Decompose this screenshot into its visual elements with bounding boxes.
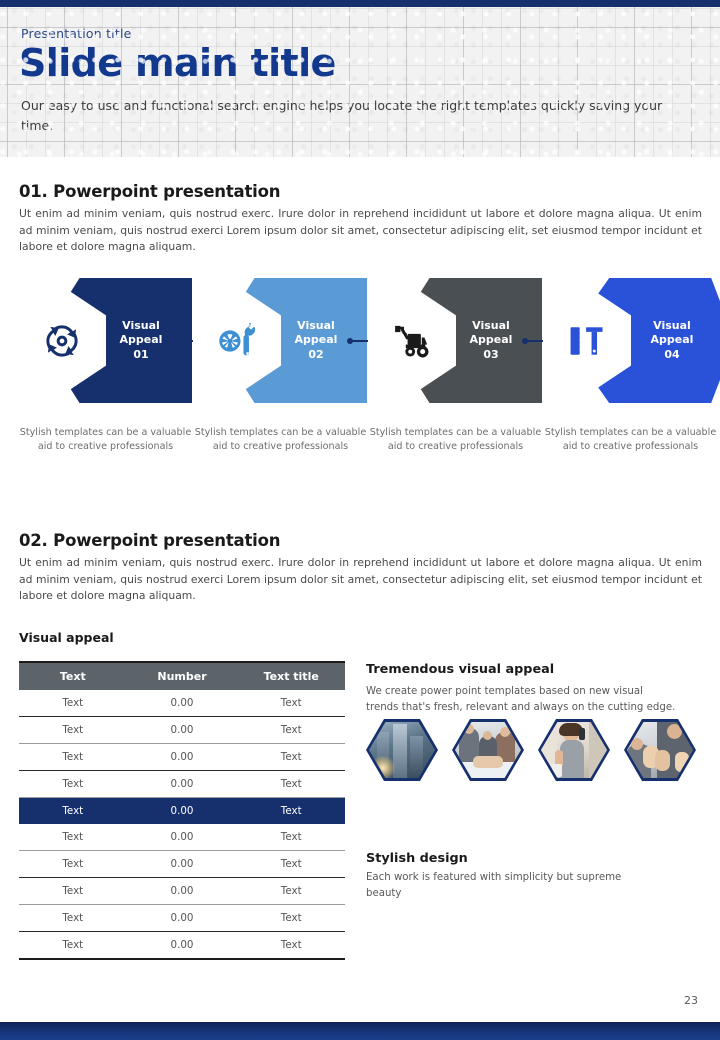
table-cell: Text	[237, 717, 345, 744]
process-step-4-number: 04	[635, 348, 709, 363]
business-meeting-photo[interactable]	[452, 719, 524, 781]
table-row[interactable]: Text 0.00 Text	[19, 824, 345, 851]
table-row[interactable]: Text 0.00 Text	[19, 878, 345, 905]
table-cell: Text	[19, 690, 127, 717]
table-cell: 0.00	[127, 905, 238, 932]
process-step-2-title: Visual Appeal	[295, 319, 338, 347]
table-cell: 0.00	[127, 851, 238, 878]
process-step-2[interactable]: Visual Appeal 02	[193, 278, 368, 403]
page-title: Slide main title	[19, 40, 336, 86]
section-1-body: Ut enim ad minim veniam, quis nostrud ex…	[19, 206, 702, 256]
table-cell: 0.00	[127, 932, 238, 960]
process-step-2-caption: Stylish templates can be a valuable aid …	[193, 426, 368, 454]
table-cell: 0.00	[127, 690, 238, 717]
table-row[interactable]: Text 0.00 Text	[19, 905, 345, 932]
woman-on-phone-photo[interactable]	[538, 719, 610, 781]
table-cell: Text	[237, 798, 345, 825]
table-row[interactable]: Text 0.00 Text	[19, 851, 345, 878]
table-row-highlighted[interactable]: Text 0.00 Text	[19, 798, 345, 825]
table-col-header-0[interactable]: Text	[19, 662, 127, 690]
top-accent-bar	[0, 0, 720, 7]
table-cell: 0.00	[127, 717, 238, 744]
process-step-1-title: Visual Appeal	[120, 319, 163, 347]
table-cell: Text	[237, 771, 345, 798]
table-cell: Text	[19, 744, 127, 771]
table-cell: 0.00	[127, 798, 238, 825]
section-2-body: Ut enim ad minim veniam, quis nostrud ex…	[19, 555, 702, 605]
bottom-accent-bar	[0, 1022, 720, 1040]
process-step-1[interactable]: Visual Appeal 01	[18, 278, 193, 403]
table-cell: Text	[237, 851, 345, 878]
table-cell: Text	[19, 771, 127, 798]
table-body: Text 0.00 Text Text 0.00 Text Text 0.00 …	[19, 690, 345, 959]
process-step-4-caption: Stylish templates can be a valuable aid …	[543, 426, 718, 454]
process-step-3-label: Visual Appeal 03	[454, 319, 528, 363]
table-cell: 0.00	[127, 878, 238, 905]
table-cell: Text	[237, 690, 345, 717]
table-row[interactable]: Text 0.00 Text	[19, 771, 345, 798]
skyscrapers-photo[interactable]	[366, 719, 438, 781]
process-step-4-label: Visual Appeal 04	[635, 319, 709, 363]
section-1-heading: 01. Powerpoint presentation	[19, 182, 280, 201]
table-cell: 0.00	[127, 744, 238, 771]
table-cell: Text	[19, 717, 127, 744]
table-cell: Text	[237, 878, 345, 905]
tremendous-visual-appeal-body: We create power point templates based on…	[366, 684, 676, 715]
table-cell: Text	[19, 824, 127, 851]
process-step-1-caption: Stylish templates can be a valuable aid …	[18, 426, 193, 454]
process-step-2-number: 02	[279, 348, 353, 363]
tremendous-visual-appeal-heading: Tremendous visual appeal	[366, 662, 554, 677]
table-title: Visual appeal	[19, 630, 114, 645]
presentation-title: Presentation title	[21, 26, 132, 41]
table-row[interactable]: Text 0.00 Text	[19, 744, 345, 771]
data-table: Text Number Text title Text 0.00 Text Te…	[19, 661, 345, 960]
table-cell: 0.00	[127, 824, 238, 851]
table-cell: Text	[237, 744, 345, 771]
section-2-heading: 02. Powerpoint presentation	[19, 531, 280, 550]
process-step-3[interactable]: Visual Appeal 03	[368, 278, 543, 403]
process-step-1-label: Visual Appeal 01	[104, 319, 178, 363]
stylish-design-body: Each work is featured with simplicity bu…	[366, 870, 626, 901]
process-step-4[interactable]: Visual Appeal 04	[543, 278, 718, 403]
table-cell: Text	[19, 851, 127, 878]
process-step-1-number: 01	[104, 348, 178, 363]
table-cell: Text	[19, 878, 127, 905]
table-cell: Text	[19, 905, 127, 932]
table-col-header-2[interactable]: Text title	[237, 662, 345, 690]
process-step-4-title: Visual Appeal	[651, 319, 694, 347]
table-cell: Text	[19, 932, 127, 960]
table-col-header-1[interactable]: Number	[127, 662, 238, 690]
slide-header: Presentation title Slide main title Our …	[0, 7, 720, 157]
table-row[interactable]: Text 0.00 Text	[19, 690, 345, 717]
process-step-3-number: 03	[454, 348, 528, 363]
table-row[interactable]: Text 0.00 Text	[19, 932, 345, 960]
table-header: Text Number Text title	[19, 662, 345, 690]
table-cell: Text	[237, 905, 345, 932]
table-row[interactable]: Text 0.00 Text	[19, 717, 345, 744]
table-cell: 0.00	[127, 771, 238, 798]
table-cell: Text	[237, 932, 345, 960]
slide-subtitle: Our easy to use and functional search en…	[21, 96, 687, 136]
process-step-2-label: Visual Appeal 02	[279, 319, 353, 363]
table-cell: Text	[237, 824, 345, 851]
applauding-audience-photo[interactable]	[624, 719, 696, 781]
photo-hexagon-row	[366, 719, 706, 781]
process-step-3-title: Visual Appeal	[470, 319, 513, 347]
stylish-design-heading: Stylish design	[366, 851, 468, 866]
page-number: 23	[684, 994, 698, 1007]
table-cell: Text	[19, 798, 127, 825]
table-header-row: Text Number Text title	[19, 662, 345, 690]
process-step-3-caption: Stylish templates can be a valuable aid …	[368, 426, 543, 454]
